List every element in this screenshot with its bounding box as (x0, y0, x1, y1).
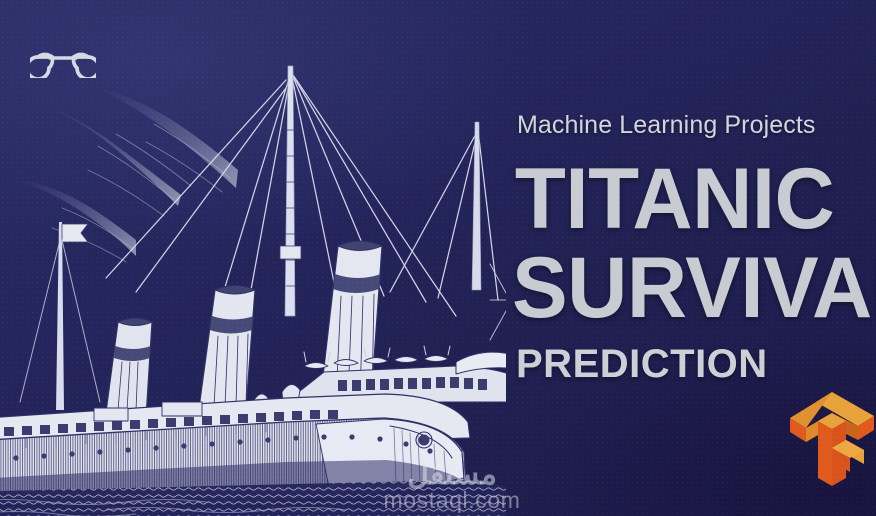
kicker-text: Machine Learning Projects (512, 112, 876, 140)
poster-canvas: Machine Learning Projects TITANIC SURVIV… (0, 0, 876, 516)
title-line-1: TITANIC (512, 163, 865, 237)
subtitle-text: PREDICTION (512, 342, 876, 387)
titanic-ship-engraving (0, 10, 506, 516)
geeksforgeeks-logo[interactable] (30, 38, 96, 78)
tensorflow-logo[interactable] (786, 386, 876, 492)
title-block: Machine Learning Projects TITANIC SURVIV… (512, 112, 876, 387)
title-line-2: SURVIVAL (512, 252, 865, 326)
